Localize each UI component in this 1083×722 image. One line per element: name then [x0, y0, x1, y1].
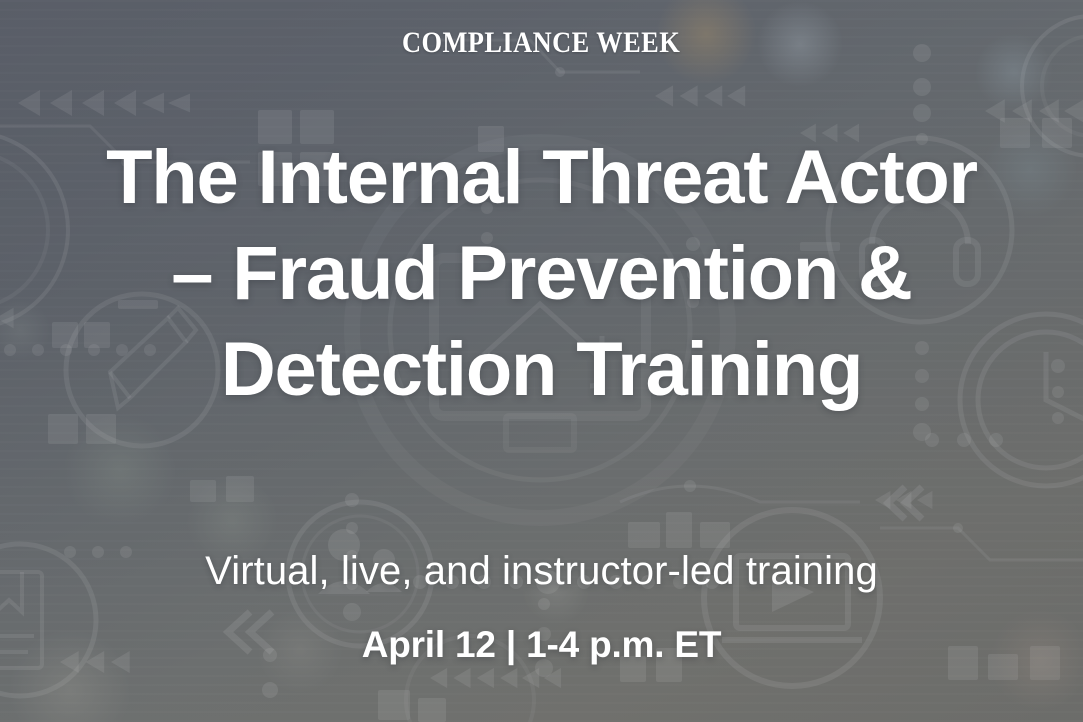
title-line-3: Detection Training: [12, 322, 1072, 418]
compliance-week-logo: COMPLIANCE WEEK: [402, 28, 680, 58]
event-datetime: April 12 | 1-4 p.m. ET: [362, 623, 722, 667]
title-line-2: – Fraud Prevention &: [12, 226, 1072, 322]
banner-content: COMPLIANCE WEEK The Internal Threat Acto…: [0, 0, 1083, 722]
page-title: The Internal Threat Actor – Fraud Preven…: [12, 130, 1072, 418]
promo-banner: COMPLIANCE WEEK The Internal Threat Acto…: [0, 0, 1083, 722]
event-subtitle: Virtual, live, and instructor-led traini…: [205, 547, 878, 595]
title-line-1: The Internal Threat Actor: [12, 130, 1072, 226]
